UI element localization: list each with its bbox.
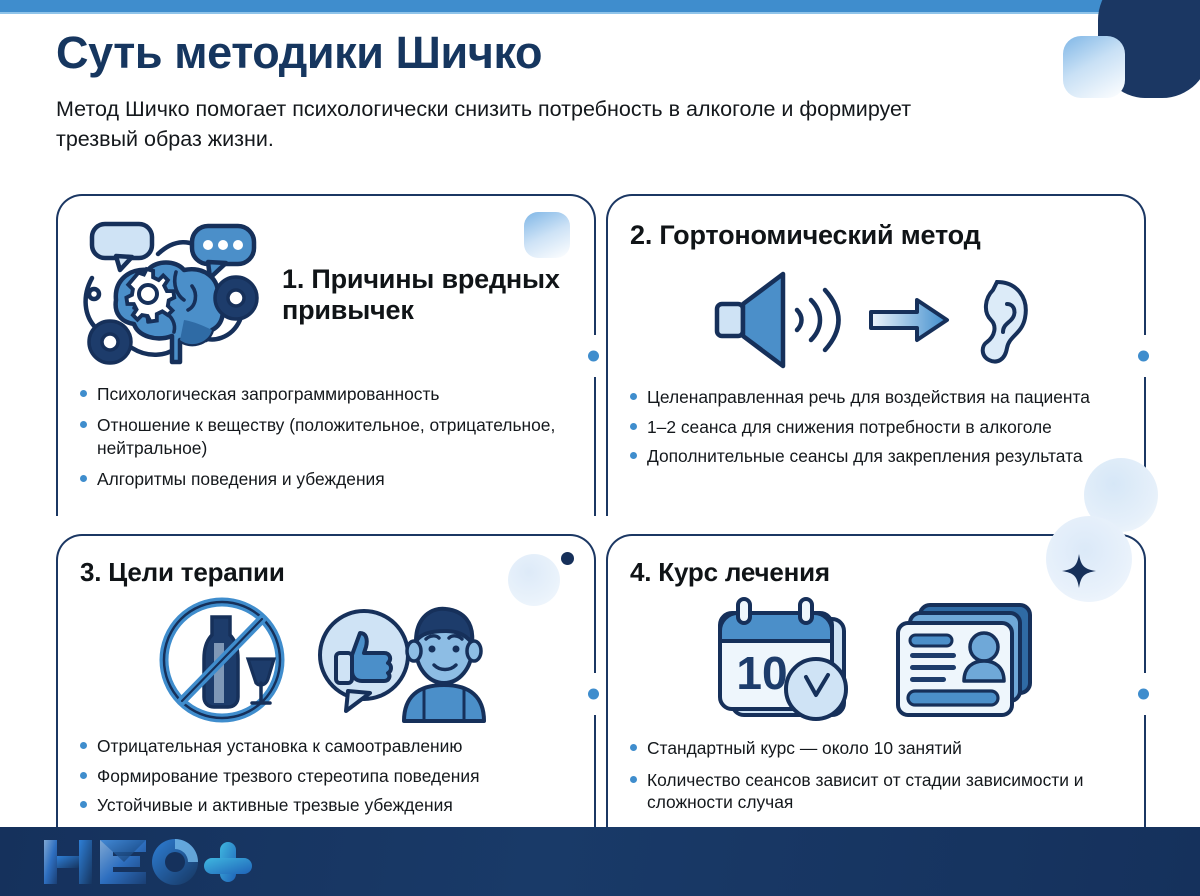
card-bullet-list: Психологическая запрограммированность От…: [80, 383, 572, 491]
card-seam-dot: [1138, 689, 1149, 700]
card-treatment-course: 4. Курс лечения 10: [606, 534, 1146, 852]
footer-bar: [0, 827, 1200, 896]
card-bullet-list: Стандартный курс — около 10 занятий Коли…: [630, 737, 1122, 813]
card-bullet-list: Целенаправленная речь для воздействия на…: [630, 386, 1122, 467]
list-item: Формирование трезвого стереотипа поведен…: [80, 765, 572, 787]
card-title: 2. Гортономический метод: [630, 220, 1122, 250]
card-causes: 1. Причины вредных привычек Психологичес…: [56, 194, 596, 516]
header: Суть методики Шичко Метод Шичко помогает…: [56, 28, 1056, 155]
cards-grid: 1. Причины вредных привычек Психологичес…: [56, 194, 1146, 834]
calendar-clock-cards-icon: 10: [630, 597, 1122, 723]
logo-letter-e: [100, 840, 146, 884]
speaker-arrow-ear-icon: [630, 268, 1122, 372]
card-seam-dot: [588, 689, 599, 700]
card-title: 1. Причины вредных привычек: [282, 264, 572, 324]
list-item: Отрицательная установка к самоотравлению: [80, 735, 572, 757]
list-item: Стандартный курс — около 10 занятий: [630, 737, 1122, 759]
no-alcohol-thumbs-up-person-icon: [80, 597, 572, 723]
sparkle-icon: [1062, 554, 1096, 588]
list-item: Дополнительные сеансы для закрепления ре…: [630, 445, 1122, 467]
list-item: Целенаправленная речь для воздействия на…: [630, 386, 1122, 408]
logo-letter-n: [44, 840, 92, 884]
card-bullet-list: Отрицательная установка к самоотравлению…: [80, 735, 572, 816]
logo-letter-o: [152, 839, 198, 885]
card-title: 3. Цели терапии: [80, 558, 572, 587]
decor-circle: [508, 554, 560, 606]
list-item: 1–2 сеанса для снижения потребности в ал…: [630, 416, 1122, 438]
calendar-number: 10: [736, 647, 787, 699]
top-accent-bar-light: [0, 12, 1200, 14]
list-item: Отношение к веществу (положительное, отр…: [80, 414, 572, 459]
corner-light-square-shape: [1063, 36, 1125, 98]
card-seam-dot: [1138, 351, 1149, 362]
brand-logo: [42, 839, 312, 885]
decor-light-square: [524, 212, 570, 258]
decor-navy-dot: [561, 552, 574, 565]
card-therapy-goals: 3. Цели терапии: [56, 534, 596, 852]
card-gortonomic-method: 2. Гортономический метод: [606, 194, 1146, 516]
card-seam-dot: [588, 351, 599, 362]
logo-plus-icon: [204, 842, 252, 882]
list-item: Алгоритмы поведения и убеждения: [80, 468, 572, 490]
list-item: Психологическая запрограммированность: [80, 383, 572, 405]
top-accent-bar: [0, 0, 1200, 12]
list-item: Количество сеансов зависит от стадии зав…: [630, 769, 1122, 814]
brain-gears-speech-bubbles-icon: [80, 216, 276, 373]
page-title: Суть методики Шичко: [56, 28, 1056, 78]
list-item: Устойчивые и активные трезвые убеждения: [80, 794, 572, 816]
page-subtitle: Метод Шичко помогает психологически сниз…: [56, 94, 936, 155]
